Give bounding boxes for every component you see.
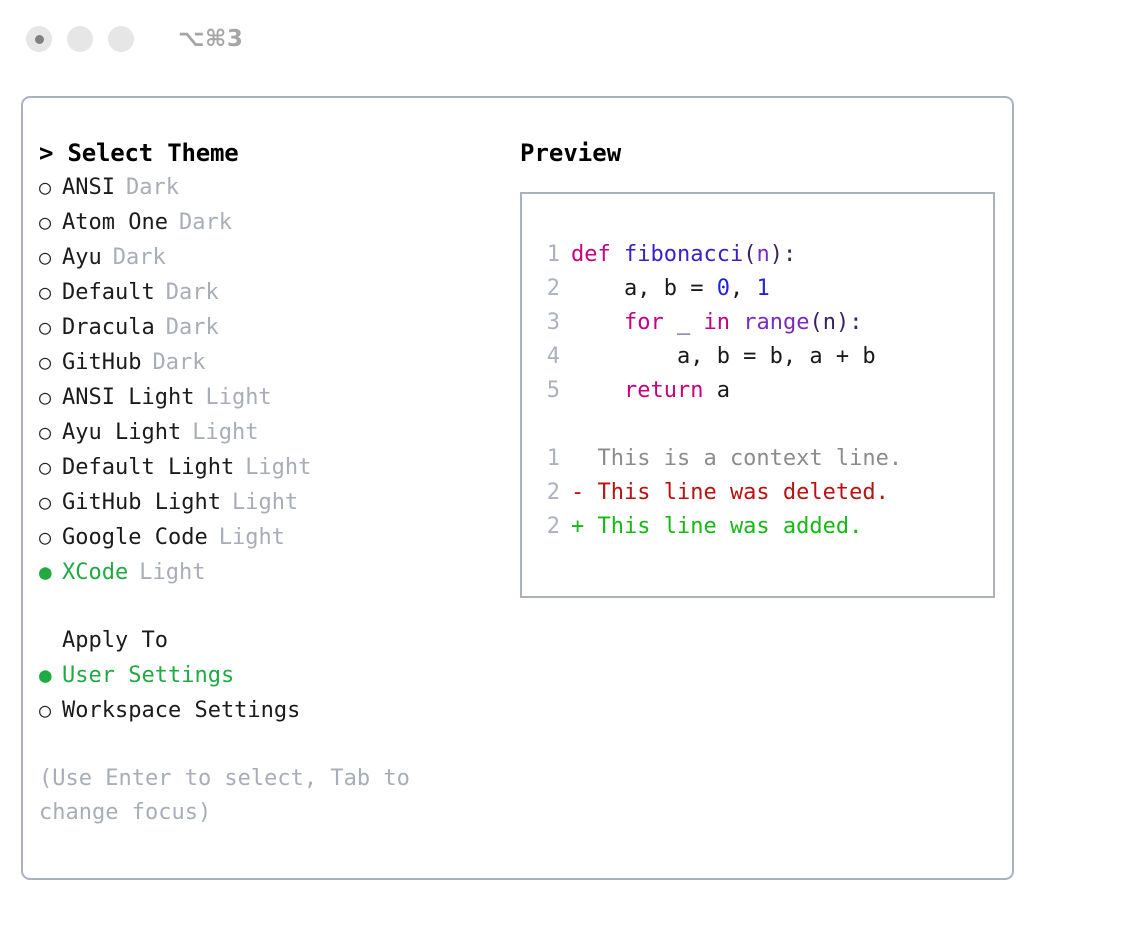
list-spacer: [39, 590, 499, 624]
theme-option-kind: Dark: [141, 346, 205, 380]
theme-option-label: GitHub Light: [62, 486, 221, 520]
line-number: 4: [538, 340, 560, 374]
theme-option-kind: Dark: [115, 171, 179, 205]
theme-option-label: ANSI Light: [62, 381, 194, 415]
line-number: 3: [538, 306, 560, 340]
radio-unselected-icon: ○: [39, 380, 62, 414]
code-token-kw: in: [703, 310, 730, 335]
code-token-call: range: [743, 310, 809, 335]
minimize-dot-icon[interactable]: [67, 26, 93, 52]
code-token-kw: for: [624, 310, 664, 335]
radio-unselected-icon: ○: [39, 345, 62, 379]
code-token-plain: [571, 310, 624, 335]
code-token-num: 0: [717, 276, 730, 301]
code-token-num: 1: [756, 276, 769, 301]
diff-text: This is a context line.: [571, 446, 902, 471]
maximize-dot-icon[interactable]: [108, 26, 134, 52]
theme-option-dracula[interactable]: ○DraculaDark: [39, 310, 499, 345]
theme-option-github-light[interactable]: ○GitHub LightLight: [39, 485, 499, 520]
code-token-call: n: [756, 242, 769, 267]
code-sample: 1def fibonacci(n):2 a, b = 0, 13 for _ i…: [538, 238, 993, 408]
panel-columns: > Select Theme ○ANSIDark○Atom OneDark○Ay…: [39, 136, 1012, 830]
theme-option-label: Ayu: [62, 241, 102, 275]
theme-option-kind: Dark: [168, 206, 232, 240]
code-token-pun: (n):: [809, 310, 862, 335]
apply-to-heading: Apply To: [39, 624, 499, 658]
theme-option-ansi-light[interactable]: ○ANSI LightLight: [39, 380, 499, 415]
code-token-fn: fibonacci: [624, 242, 743, 267]
theme-option-kind: Light: [128, 556, 205, 590]
apply-to-option-user-settings[interactable]: ●User Settings: [39, 658, 499, 693]
apply-to-option-label: Workspace Settings: [62, 694, 300, 728]
line-number: 5: [538, 374, 560, 408]
theme-option-google-code[interactable]: ○Google CodeLight: [39, 520, 499, 555]
code-token-pun: ):: [770, 242, 797, 267]
theme-option-ayu-light[interactable]: ○Ayu LightLight: [39, 415, 499, 450]
radio-unselected-icon: ○: [39, 520, 62, 554]
code-line: 5 return a: [538, 374, 993, 408]
code-token-var: ,: [730, 276, 757, 301]
radio-unselected-icon: ○: [39, 205, 62, 239]
line-number: 1: [538, 442, 560, 476]
theme-option-kind: Light: [208, 521, 285, 555]
code-token-var: a, b = b, a + b: [571, 344, 876, 369]
hint-spacer: [39, 728, 499, 762]
code-line: 1def fibonacci(n):: [538, 238, 993, 272]
code-token-var: a, b =: [571, 276, 717, 301]
theme-option-label: Google Code: [62, 521, 208, 555]
code-token-plain: [690, 310, 703, 335]
theme-option-label: ANSI: [62, 171, 115, 205]
line-number: 2: [538, 510, 560, 544]
code-token-plain: [611, 242, 624, 267]
code-token-var: a: [703, 378, 730, 403]
diff-line-ctx: 1 This is a context line.: [538, 442, 993, 476]
theme-selector-column: > Select Theme ○ANSIDark○Atom OneDark○Ay…: [39, 136, 499, 830]
theme-option-label: XCode: [62, 556, 128, 590]
code-token-plain: [730, 310, 743, 335]
theme-option-label: Ayu Light: [62, 416, 181, 450]
diff-sample: 1 This is a context line.2- This line wa…: [538, 442, 993, 544]
code-line: 3 for _ in range(n):: [538, 306, 993, 340]
code-token-kw: return: [624, 378, 703, 403]
radio-unselected-icon: ○: [39, 415, 62, 449]
traffic-lights: [26, 26, 134, 52]
theme-option-label: Dracula: [62, 311, 155, 345]
theme-option-ansi[interactable]: ○ANSIDark: [39, 170, 499, 205]
radio-unselected-icon: ○: [39, 693, 62, 727]
radio-unselected-icon: ○: [39, 450, 62, 484]
theme-option-kind: Dark: [155, 276, 219, 310]
radio-selected-icon: ●: [39, 555, 62, 589]
diff-text: - This line was deleted.: [571, 480, 889, 505]
theme-option-kind: Light: [221, 486, 298, 520]
preview-code-box: 1def fibonacci(n):2 a, b = 0, 13 for _ i…: [520, 192, 995, 598]
diff-text: + This line was added.: [571, 514, 862, 539]
app-window: ⌥⌘3 > Select Theme ○ANSIDark○Atom OneDar…: [0, 0, 1140, 934]
theme-list: ○ANSIDark○Atom OneDark○AyuDark○DefaultDa…: [39, 170, 499, 590]
radio-unselected-icon: ○: [39, 240, 62, 274]
diff-line-del: 2- This line was deleted.: [538, 476, 993, 510]
theme-option-atom-one[interactable]: ○Atom OneDark: [39, 205, 499, 240]
panel-content: > Select Theme ○ANSIDark○Atom OneDark○Ay…: [23, 98, 1012, 878]
theme-option-kind: Dark: [155, 311, 219, 345]
close-dot-center: [35, 35, 44, 44]
code-token-pun: _: [677, 310, 690, 335]
theme-option-kind: Dark: [102, 241, 166, 275]
theme-option-kind: Light: [194, 381, 271, 415]
apply-to-list: ●User Settings○Workspace Settings: [39, 658, 499, 728]
code-token-plain: [571, 378, 624, 403]
line-number: 2: [538, 272, 560, 306]
apply-to-option-workspace-settings[interactable]: ○Workspace Settings: [39, 693, 499, 728]
radio-unselected-icon: ○: [39, 485, 62, 519]
window-titlebar: ⌥⌘3: [0, 0, 1140, 78]
line-number: 2: [538, 476, 560, 510]
select-theme-heading: > Select Theme: [39, 136, 499, 170]
theme-option-label: GitHub: [62, 346, 141, 380]
diff-line-add: 2+ This line was added.: [538, 510, 993, 544]
code-token-plain: [664, 310, 677, 335]
radio-selected-icon: ●: [39, 658, 62, 692]
keyboard-hint-text: (Use Enter to select, Tab to change focu…: [39, 762, 454, 830]
theme-option-default-light[interactable]: ○Default LightLight: [39, 450, 499, 485]
theme-option-kind: Light: [234, 451, 311, 485]
theme-option-label: Default Light: [62, 451, 234, 485]
preview-column: Preview 1def fibonacci(n):2 a, b = 0, 13…: [499, 136, 1012, 598]
theme-option-kind: Light: [181, 416, 258, 450]
theme-option-github[interactable]: ○GitHubDark: [39, 345, 499, 380]
theme-option-label: Default: [62, 276, 155, 310]
theme-option-ayu[interactable]: ○AyuDark: [39, 240, 499, 275]
theme-option-xcode[interactable]: ●XCodeLight: [39, 555, 499, 590]
keyboard-shortcut-label: ⌥⌘3: [178, 26, 243, 52]
close-dot-icon[interactable]: [26, 26, 52, 52]
main-panel: > Select Theme ○ANSIDark○Atom OneDark○Ay…: [21, 96, 1014, 880]
code-line: 4 a, b = b, a + b: [538, 340, 993, 374]
radio-unselected-icon: ○: [39, 275, 62, 309]
theme-option-default[interactable]: ○DefaultDark: [39, 275, 499, 310]
code-diff-spacer: [538, 408, 993, 442]
apply-to-option-label: User Settings: [62, 659, 234, 693]
line-number: 1: [538, 238, 560, 272]
theme-option-label: Atom One: [62, 206, 168, 240]
radio-unselected-icon: ○: [39, 170, 62, 204]
radio-unselected-icon: ○: [39, 310, 62, 344]
code-line: 2 a, b = 0, 1: [538, 272, 993, 306]
code-token-kw: def: [571, 242, 611, 267]
preview-heading: Preview: [520, 136, 1012, 170]
code-token-pun: (: [743, 242, 756, 267]
